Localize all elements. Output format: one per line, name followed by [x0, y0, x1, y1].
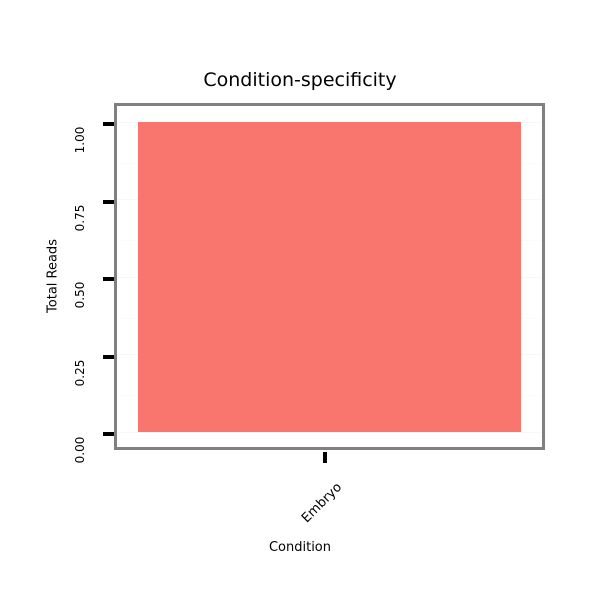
x-tick-mark-embryo — [323, 452, 327, 463]
y-tick-mark-0-25 — [103, 355, 114, 359]
plot-panel-inner — [117, 106, 542, 447]
x-axis-title: Condition — [0, 540, 600, 555]
y-tick-mark-1-00 — [103, 122, 114, 126]
y-tick-mark-0-00 — [103, 432, 114, 436]
chart-canvas: Condition-specificity 1.00 0.75 0.50 0.2… — [0, 0, 600, 600]
bar-embryo[interactable] — [138, 122, 521, 432]
y-tick-label-0-50: 0.50 — [73, 282, 87, 309]
plot-panel — [114, 103, 545, 450]
y-tick-label-0-00: 0.00 — [73, 437, 87, 464]
chart-title: Condition-specificity — [0, 69, 600, 91]
y-tick-mark-0-50 — [103, 277, 114, 281]
y-tick-label-1-00: 1.00 — [73, 127, 87, 154]
y-tick-label-0-25: 0.25 — [73, 360, 87, 387]
y-tick-label-0-75: 0.75 — [73, 205, 87, 232]
x-tick-label-embryo: Embryo — [299, 480, 345, 526]
y-axis-title: Total Reads — [46, 239, 61, 313]
gridline-major-0-00 — [117, 432, 542, 433]
y-tick-mark-0-75 — [103, 200, 114, 204]
